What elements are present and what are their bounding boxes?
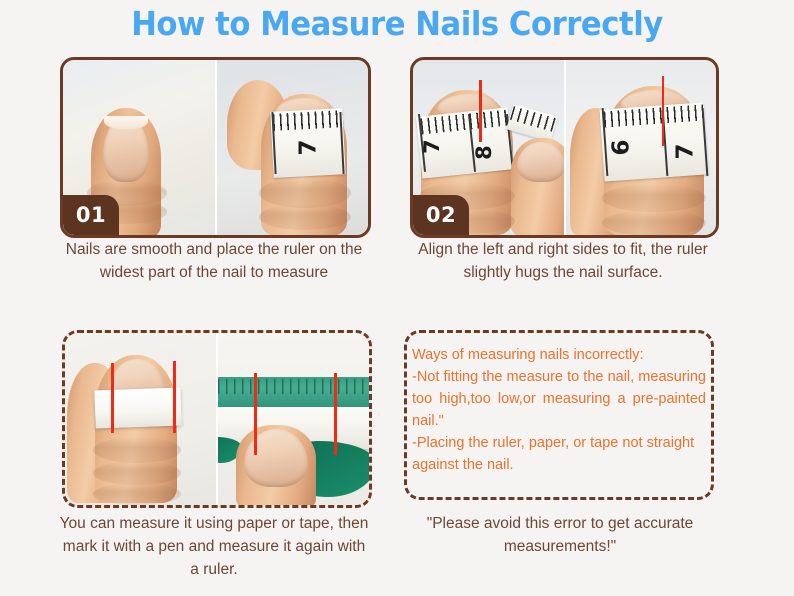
step-01-photo-right: 7 bbox=[215, 60, 369, 235]
ruler-number: 6 bbox=[610, 139, 633, 155]
bottom-left-photo-panel bbox=[62, 330, 372, 508]
ruler-number: 7 bbox=[422, 139, 443, 154]
infographic-grid: 7 01 Nails are smooth and place the rule… bbox=[0, 0, 794, 596]
step-01-photo-panel: 7 01 bbox=[60, 57, 371, 238]
bottom-left-photo-left bbox=[65, 333, 216, 505]
bottom-left-photo-right bbox=[216, 333, 369, 505]
warning-heading: Ways of measuring nails incorrectly: bbox=[412, 344, 706, 366]
ruler-number: 8 bbox=[474, 145, 495, 160]
step-01-caption: Nails are smooth and place the ruler on … bbox=[60, 238, 368, 284]
step-01-badge: 01 bbox=[63, 195, 119, 235]
warning-text: Ways of measuring nails incorrectly: -No… bbox=[412, 344, 706, 476]
green-ruler bbox=[218, 377, 369, 407]
warning-line-1: -Not fitting the measure to the nail, me… bbox=[412, 366, 706, 432]
warning-line-2: -Placing the ruler, paper, or tape not s… bbox=[412, 432, 706, 476]
step-02-photo-panel: 7 8 6 7 bbox=[410, 57, 719, 238]
ruler-number: 7 bbox=[297, 139, 320, 155]
step-02-badge: 02 bbox=[413, 195, 469, 235]
bottom-left-caption: You can measure it using paper or tape, … bbox=[58, 512, 370, 581]
ruler-number: 7 bbox=[674, 143, 697, 159]
step-02-caption: Align the left and right sides to fit, t… bbox=[410, 238, 716, 284]
warning-caption: "Please avoid this error to get accurate… bbox=[404, 512, 716, 558]
step-02-photo-right: 6 7 bbox=[564, 60, 717, 235]
